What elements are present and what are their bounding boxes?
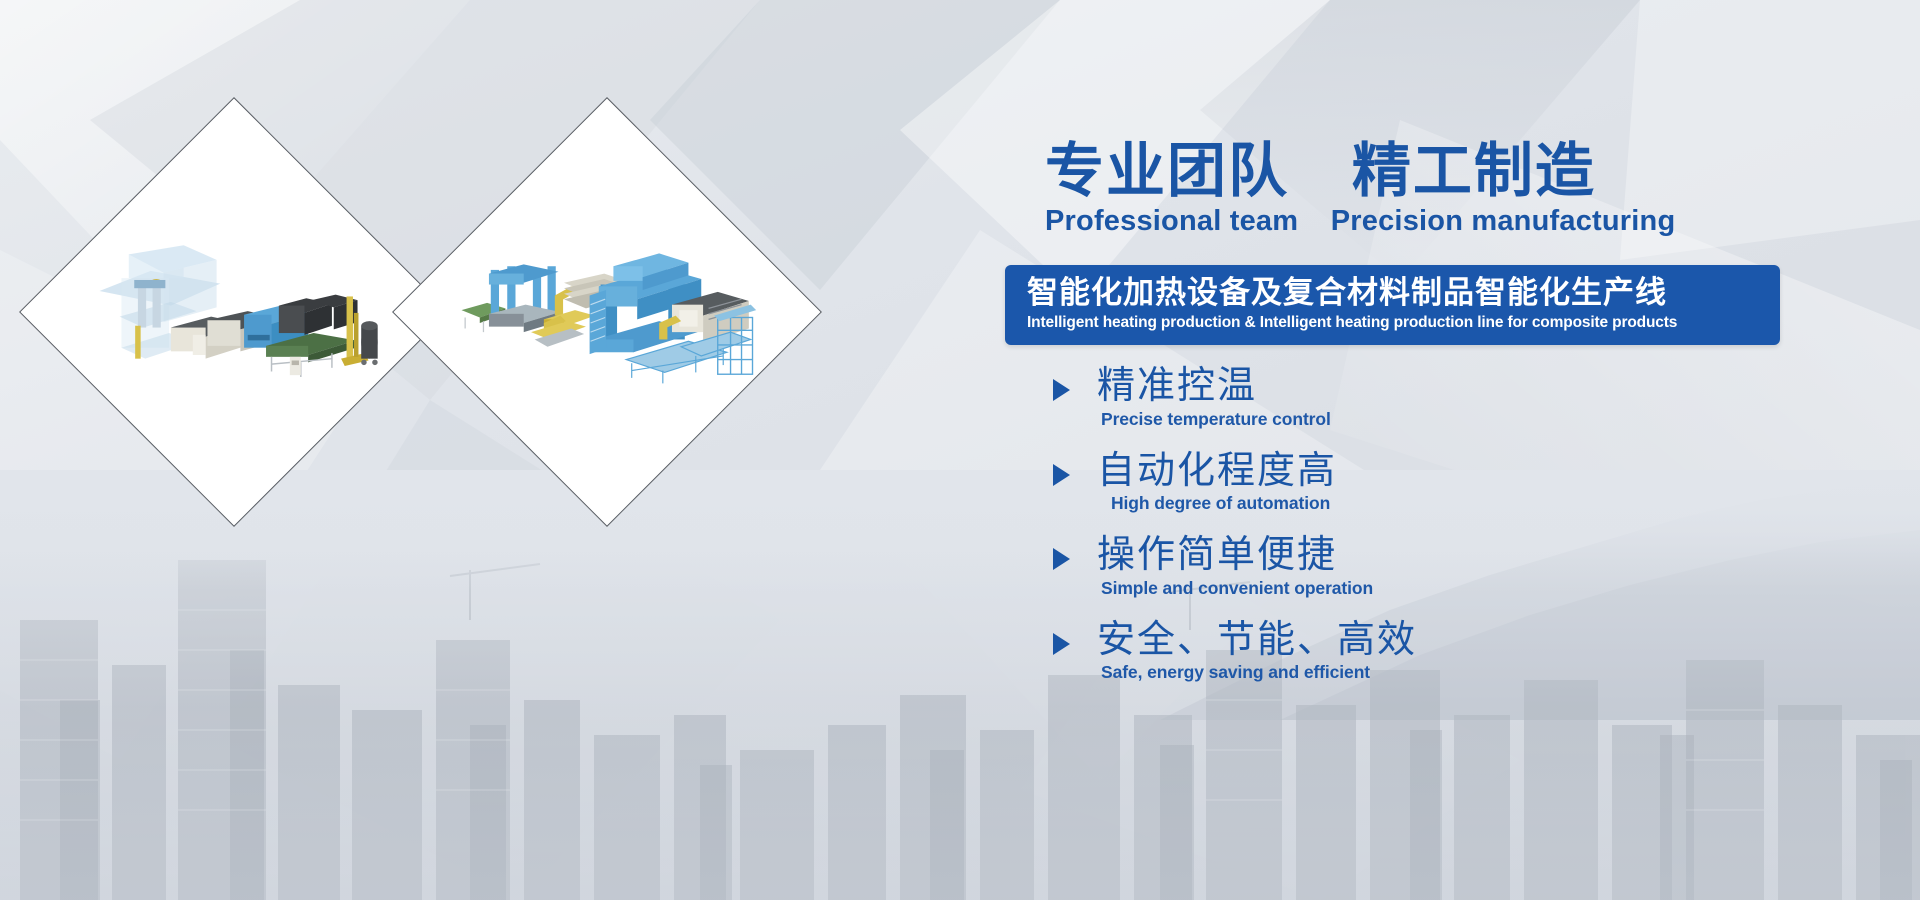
product-image-diamond-left: [19, 97, 449, 527]
headline-cn-part1: 专业团队: [1045, 138, 1289, 204]
feature-label-en: Precise temperature control: [1101, 409, 1635, 430]
feature-label-en: High degree of automation: [1111, 493, 1635, 514]
banner-content: 专业团队 精工制造 Professional team Precision ma…: [1005, 0, 1920, 900]
feature-label-cn: 安全、节能、高效: [1097, 619, 1635, 662]
triangle-right-icon: [1053, 633, 1070, 655]
feature-label-en: Simple and convenient operation: [1101, 578, 1635, 599]
product-image-right-inner: [456, 161, 758, 463]
feature-list: 精准控温 Precise temperature control 自动化程度高 …: [1035, 365, 1635, 683]
feature-item: 操作简单便捷 Simple and convenient operation: [1035, 534, 1635, 599]
headline-en: Professional team Precision manufacturin…: [1045, 205, 1675, 238]
feature-item: 自动化程度高 High degree of automation: [1035, 450, 1635, 515]
feature-label-cn: 操作简单便捷: [1097, 534, 1635, 577]
feature-label-cn: 精准控温: [1097, 365, 1635, 408]
triangle-right-icon: [1053, 548, 1070, 570]
intelligent-heating-line-render: [456, 232, 758, 392]
feature-item: 精准控温 Precise temperature control: [1035, 365, 1635, 430]
triangle-right-icon: [1053, 464, 1070, 486]
product-title-bar: 智能化加热设备及复合材料制品智能化生产线 Intelligent heating…: [1005, 265, 1780, 345]
feature-item: 安全、节能、高效 Safe, energy saving and efficie…: [1035, 619, 1635, 684]
product-image-diamond-right: [392, 97, 822, 527]
headline-cn-part2: 精工制造: [1352, 138, 1596, 204]
feature-label-cn: 自动化程度高: [1097, 450, 1635, 493]
headline-en-part1: Professional team: [1045, 205, 1298, 237]
marketing-banner: 专业团队 精工制造 Professional team Precision ma…: [0, 0, 1920, 900]
product-image-left-inner: [83, 161, 385, 463]
headline-en-part2: Precision manufacturing: [1331, 205, 1676, 237]
product-title-cn: 智能化加热设备及复合材料制品智能化生产线: [1027, 274, 1766, 312]
product-title-en: Intelligent heating production & Intelli…: [1027, 313, 1766, 334]
feature-label-en: Safe, energy saving and efficient: [1101, 662, 1635, 683]
composite-press-line-render: [83, 237, 385, 387]
triangle-right-icon: [1053, 379, 1070, 401]
headline-cn: 专业团队 精工制造: [1045, 142, 1596, 201]
